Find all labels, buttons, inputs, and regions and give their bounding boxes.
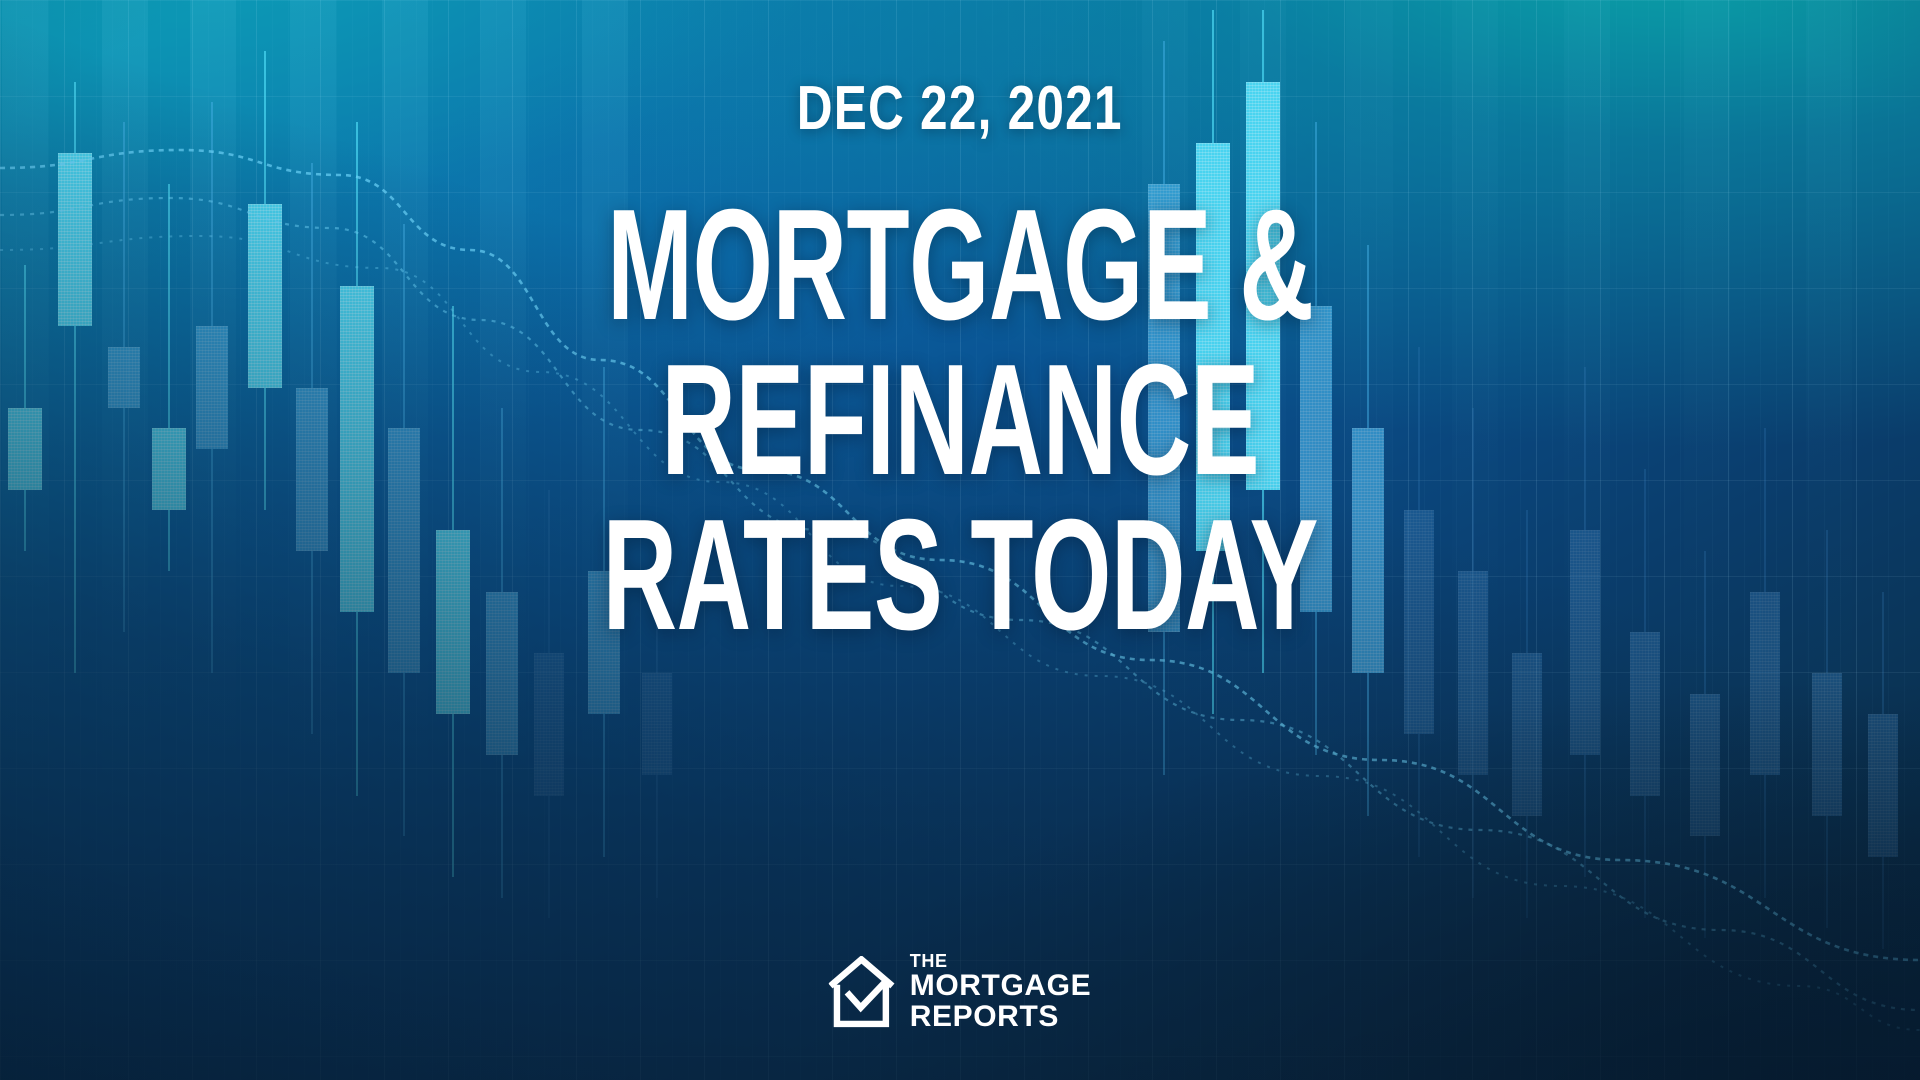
mortgage-rates-hero-banner: DEC 22, 2021 MORTGAGE & REFINANCE RATES … — [0, 0, 1920, 1080]
page-title-line-3: RATES TODAY — [602, 498, 1317, 653]
page-title-line-2: REFINANCE — [602, 343, 1317, 498]
page-title-line-1: MORTGAGE & — [602, 188, 1317, 343]
page-title: MORTGAGE & REFINANCE RATES TODAY — [414, 188, 1506, 652]
banner-content: DEC 22, 2021 MORTGAGE & REFINANCE RATES … — [0, 0, 1920, 1080]
publish-date: DEC 22, 2021 — [797, 78, 1123, 140]
